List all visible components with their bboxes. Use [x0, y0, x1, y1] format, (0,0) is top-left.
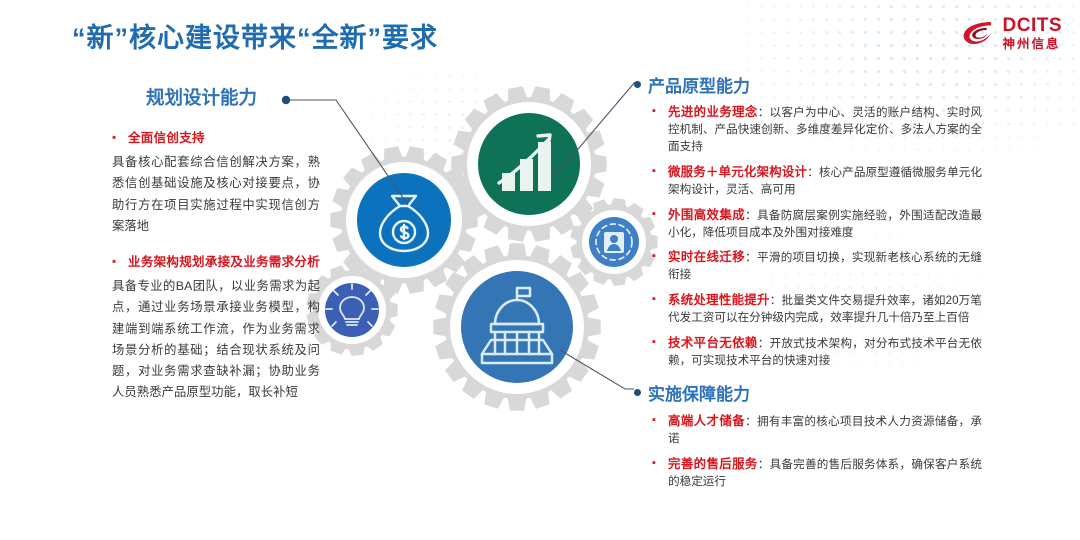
page-title: “新”核心建设带来“全新”要求 — [72, 16, 438, 55]
right-list-item: ▪实时在线迁移：平滑的项目切换，实现新老核心系统的无缝衔接 — [652, 248, 982, 284]
right-list-item-term: 先进的业务理念 — [668, 105, 758, 119]
bullet-dot-icon: ▪ — [652, 103, 659, 156]
slide-canvas: “新”核心建设带来“全新”要求 DCITS 神州信息 — [0, 0, 1080, 540]
right-list-item: ▪先进的业务理念：以客户为中心、灵活的账户结构、实时风控机制、产品快速创新、多维… — [652, 103, 982, 156]
right-section-1-list: ▪先进的业务理念：以客户为中心、灵活的账户结构、实时风控机制、产品快速创新、多维… — [652, 103, 982, 377]
right-list-item-text: 系统处理性能提升：批量类文件交易提升效率，诸如20万笔代发工资可以在分钟级内完成… — [668, 291, 982, 327]
left-column-heading: 规划设计能力 — [146, 84, 257, 110]
right-list-item: ▪技术平台无依赖：开放式技术架构，对分布式技术平台无依赖，可实现技术平台的快速对… — [652, 334, 982, 370]
bullet-dot-icon: ▪ — [112, 252, 120, 272]
right-list-item: ▪微服务＋单元化架构设计：核心产品原型遵循微服务单元化架构设计，灵活、高可用 — [652, 163, 982, 199]
right-list-item: ▪完善的售后服务：具备完善的售后服务体系，确保客户系统的稳定运行 — [652, 455, 982, 491]
swoosh-icon — [962, 19, 996, 47]
gears-illustration — [286, 56, 686, 456]
section-bullet-dot-icon — [634, 389, 641, 396]
left-bullet-2: ▪ 业务架构规划承接及业务需求分析 具备专业的BA团队，以业务需求为起点，通过业… — [112, 252, 320, 403]
right-list-item-term: 实时在线迁移 — [668, 250, 745, 264]
right-list-item-text: 实时在线迁移：平滑的项目切换，实现新老核心系统的无缝衔接 — [668, 248, 982, 284]
right-list-item-text: 微服务＋单元化架构设计：核心产品原型遵循微服务单元化架构设计，灵活、高可用 — [668, 163, 982, 199]
right-list-item: ▪高端人才储备：拥有丰富的核心项目技术人力资源储备，承诺 — [652, 412, 982, 448]
right-list-item-term: 完善的售后服务 — [668, 457, 758, 471]
left-bullet-2-title: ▪ 业务架构规划承接及业务需求分析 — [112, 252, 320, 272]
gear-user-badge — [582, 210, 646, 274]
gear-money-bag — [346, 162, 462, 278]
right-list-item-text: 技术平台无依赖：开放式技术架构，对分布式技术平台无依赖，可实现技术平台的快速对接 — [668, 334, 982, 370]
right-list-item-text: 先进的业务理念：以客户为中心、灵活的账户结构、实时风控机制、产品快速创新、多维度… — [668, 103, 982, 156]
right-list-item-term: 系统处理性能提升 — [668, 293, 770, 307]
logo-text-cn: 神州信息 — [1003, 38, 1063, 51]
right-list-item: ▪系统处理性能提升：批量类文件交易提升效率，诸如20万笔代发工资可以在分钟级内完… — [652, 291, 982, 327]
bullet-dot-icon: ▪ — [652, 248, 659, 284]
right-list-item: ▪外围高效集成：具备防腐层案例实施经验，外围适配改造最小化，降低项目成本及外围对… — [652, 206, 982, 242]
brand-logo: DCITS 神州信息 — [962, 16, 1063, 51]
right-section-2-list: ▪高端人才储备：拥有丰富的核心项目技术人力资源储备，承诺▪完善的售后服务：具备完… — [652, 412, 982, 498]
lightbulb-circle — [325, 283, 379, 337]
left-bullet-1-body: 具备核心配套综合信创解决方案，熟悉信创基础设施及核心对接要点，协助行方在项目实施… — [112, 152, 320, 237]
bullet-dot-icon: ▪ — [652, 206, 659, 242]
bullet-dot-icon: ▪ — [652, 455, 659, 491]
right-list-item-term: 外围高效集成 — [668, 208, 745, 222]
right-list-item-term: 高端人才储备 — [668, 414, 745, 428]
gear-building — [450, 260, 584, 394]
right-section-1-heading: 产品原型能力 — [634, 72, 750, 97]
left-bullet-2-body: 具备专业的BA团队，以业务需求为起点，通过业务场景承接业务模型，构建端到端系统工… — [112, 276, 320, 403]
bullet-dot-icon: ▪ — [652, 334, 659, 370]
logo-text-en: DCITS — [1003, 16, 1063, 35]
left-bullet-1-title: ▪ 全面信创支持 — [112, 128, 320, 148]
gear-lightbulb — [318, 276, 386, 344]
right-list-item-text: 外围高效集成：具备防腐层案例实施经验，外围适配改造最小化，降低项目成本及外围对接… — [668, 206, 982, 242]
section-bullet-dot-icon — [634, 81, 641, 88]
right-list-item-text: 高端人才储备：拥有丰富的核心项目技术人力资源储备，承诺 — [668, 412, 982, 448]
bullet-dot-icon: ▪ — [112, 128, 120, 148]
right-section-2-heading: 实施保障能力 — [634, 380, 750, 405]
bullet-dot-icon: ▪ — [652, 291, 659, 327]
right-list-item-text: 完善的售后服务：具备完善的售后服务体系，确保客户系统的稳定运行 — [668, 455, 982, 491]
right-list-item-term: 微服务＋单元化架构设计 — [668, 165, 807, 179]
right-list-item-term: 技术平台无依赖 — [668, 336, 758, 350]
gear-bar-chart — [467, 102, 591, 226]
bullet-dot-icon: ▪ — [652, 163, 659, 199]
left-bullet-1: ▪ 全面信创支持 具备核心配套综合信创解决方案，熟悉信创基础设施及核心对接要点，… — [112, 128, 320, 237]
bullet-dot-icon: ▪ — [652, 412, 659, 448]
